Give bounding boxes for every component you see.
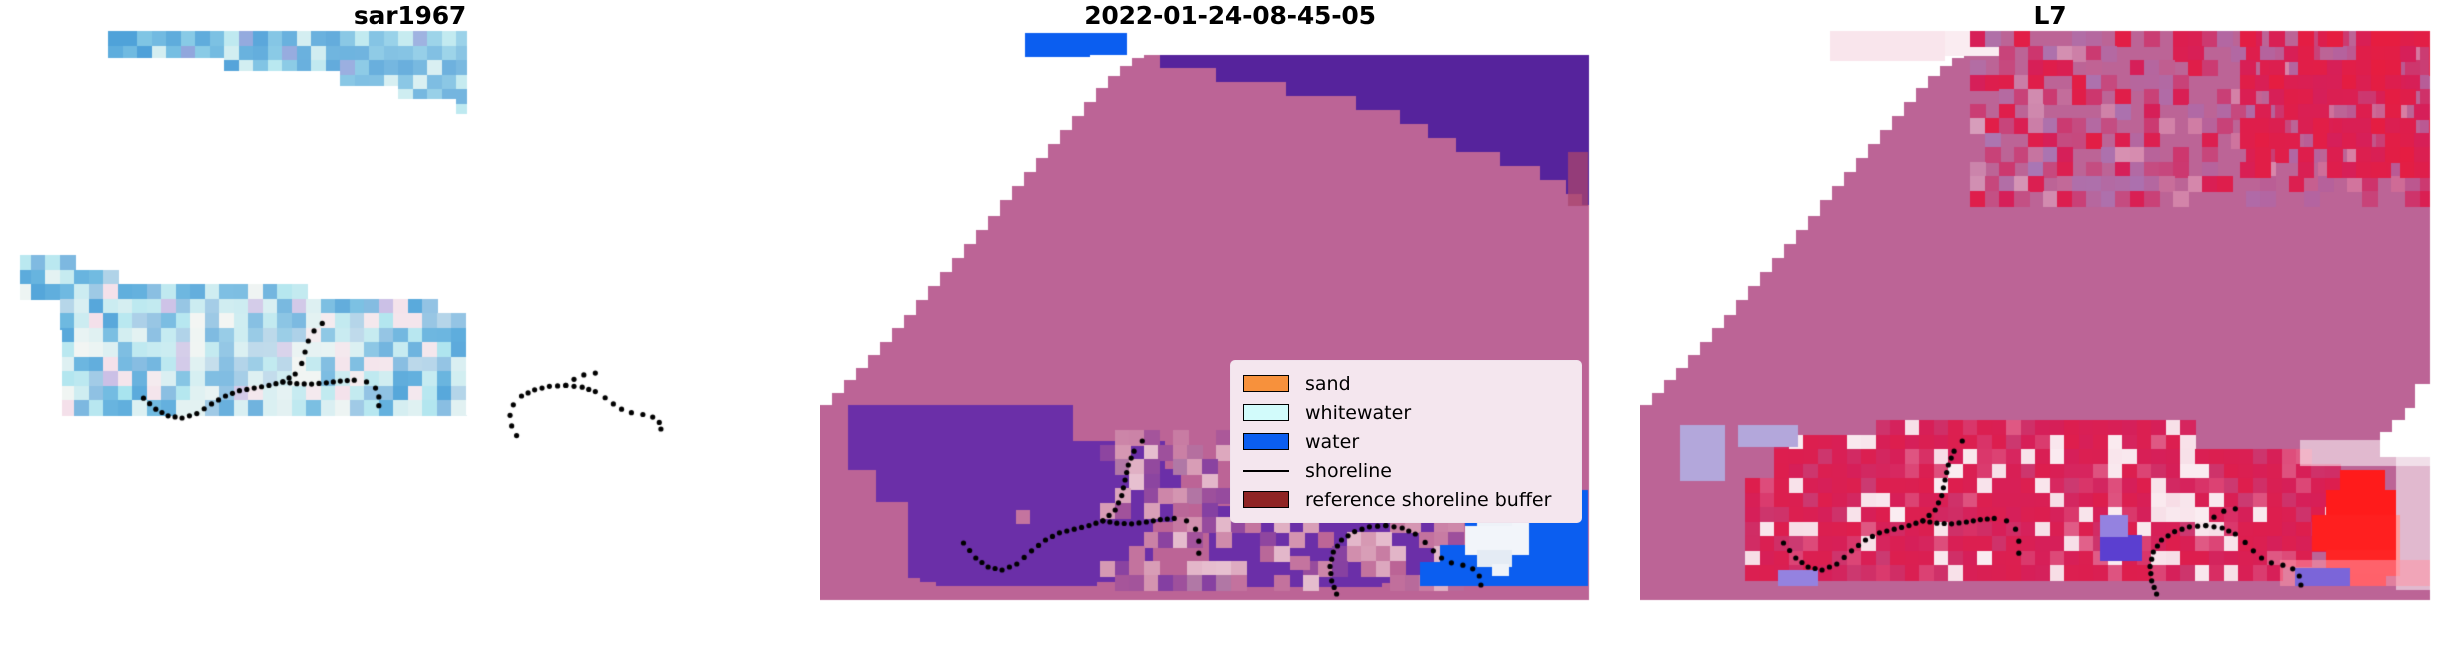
color-swatch-whitewater — [1243, 404, 1289, 421]
legend-label-shoreline: shoreline — [1305, 461, 1392, 481]
panel-sar1967[interactable]: sar1967 — [0, 0, 820, 668]
sar1967-raster — [0, 0, 820, 668]
legend-label-sand: sand — [1305, 374, 1351, 394]
legend: sand whitewater water shoreline referenc… — [1230, 360, 1582, 523]
legend-label-reference-shoreline-buffer: reference shoreline buffer — [1305, 490, 1551, 510]
legend-label-water: water — [1305, 432, 1359, 452]
line-swatch-shoreline — [1243, 470, 1289, 472]
l7-raster — [1640, 0, 2460, 668]
legend-item-whitewater: whitewater — [1243, 398, 1571, 427]
color-swatch-sand — [1243, 375, 1289, 392]
figure-canvas: sar1967 2022-01-24-08-45-05 L7 sand whit… — [0, 0, 2460, 668]
legend-item-water: water — [1243, 427, 1571, 456]
legend-label-whitewater: whitewater — [1305, 403, 1411, 423]
panel-classified[interactable]: 2022-01-24-08-45-05 — [820, 0, 1640, 668]
color-swatch-water — [1243, 433, 1289, 450]
legend-item-shoreline: shoreline — [1243, 456, 1571, 485]
legend-item-reference-shoreline-buffer: reference shoreline buffer — [1243, 485, 1571, 514]
panel-l7[interactable]: L7 — [1640, 0, 2460, 668]
legend-item-sand: sand — [1243, 369, 1571, 398]
color-swatch-reference-shoreline-buffer — [1243, 491, 1289, 508]
classified-raster — [820, 0, 1640, 668]
